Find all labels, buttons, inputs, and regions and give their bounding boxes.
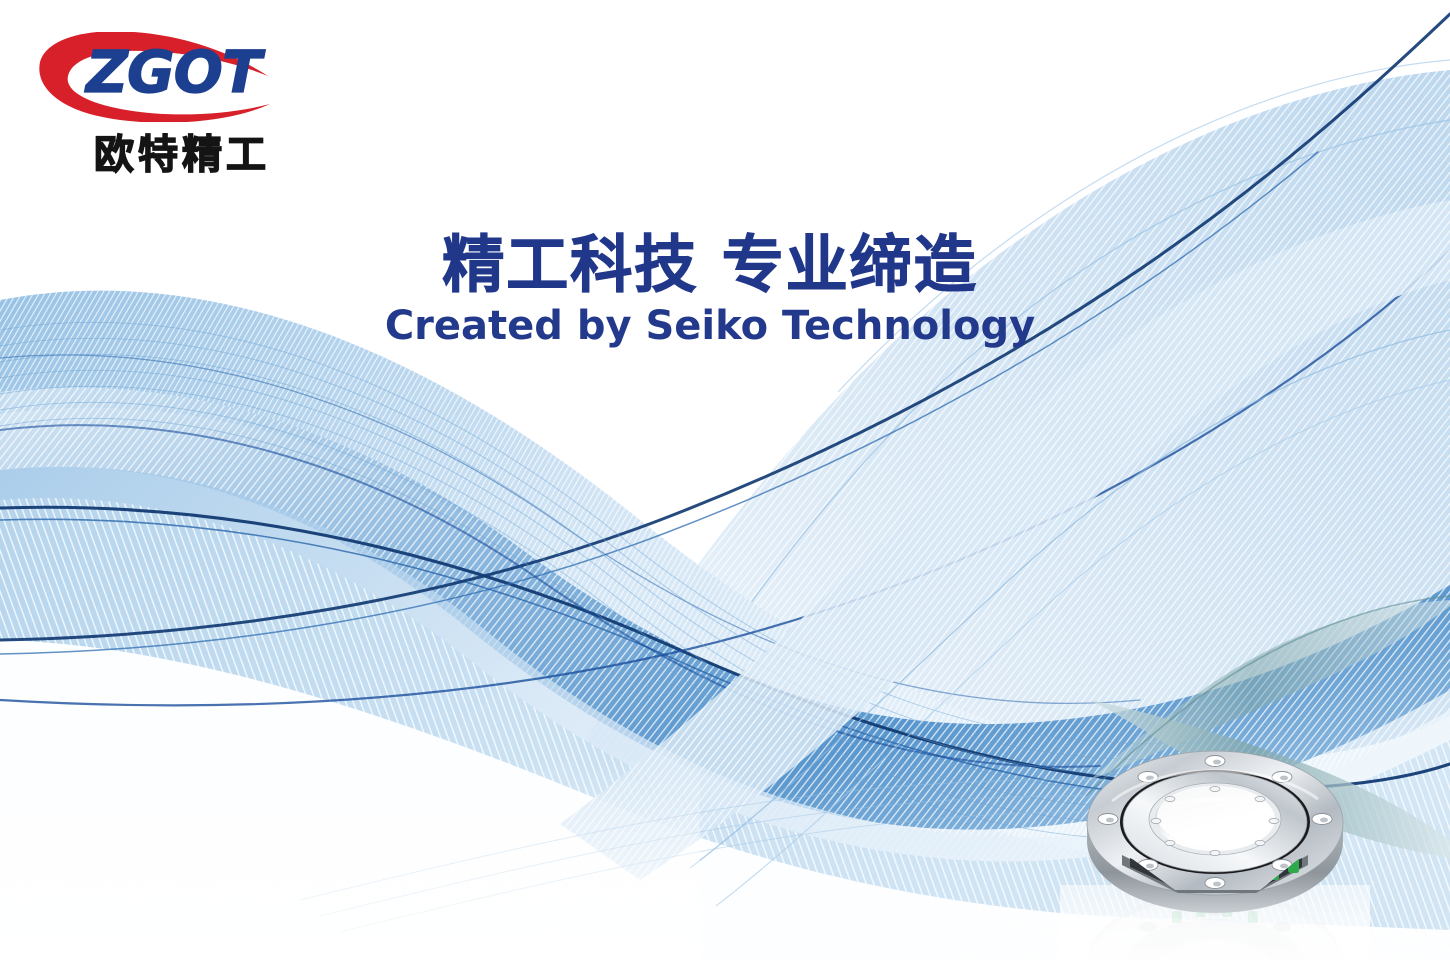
bearing-body <box>1087 751 1343 913</box>
slewing-ring-bearing-illustration <box>1060 715 1370 960</box>
banner-canvas: ZGOT 欧特精工 精工科技 专业缔造 Created by Seiko Tec… <box>0 0 1450 960</box>
company-logo[interactable]: ZGOT 欧特精工 <box>38 32 303 172</box>
zgot-wordmark-text: ZGOT <box>84 38 266 106</box>
headline-english: Created by Seiko Technology <box>365 305 1055 347</box>
zgot-wordmark-with-swoosh: ZGOT <box>38 32 303 122</box>
logo-chinese-name: 欧特精工 <box>94 135 270 175</box>
headline-chinese: 精工科技 专业缔造 <box>365 232 1055 299</box>
product-image <box>1060 715 1370 960</box>
headline-block: 精工科技 专业缔造 Created by Seiko Technology <box>365 232 1055 347</box>
